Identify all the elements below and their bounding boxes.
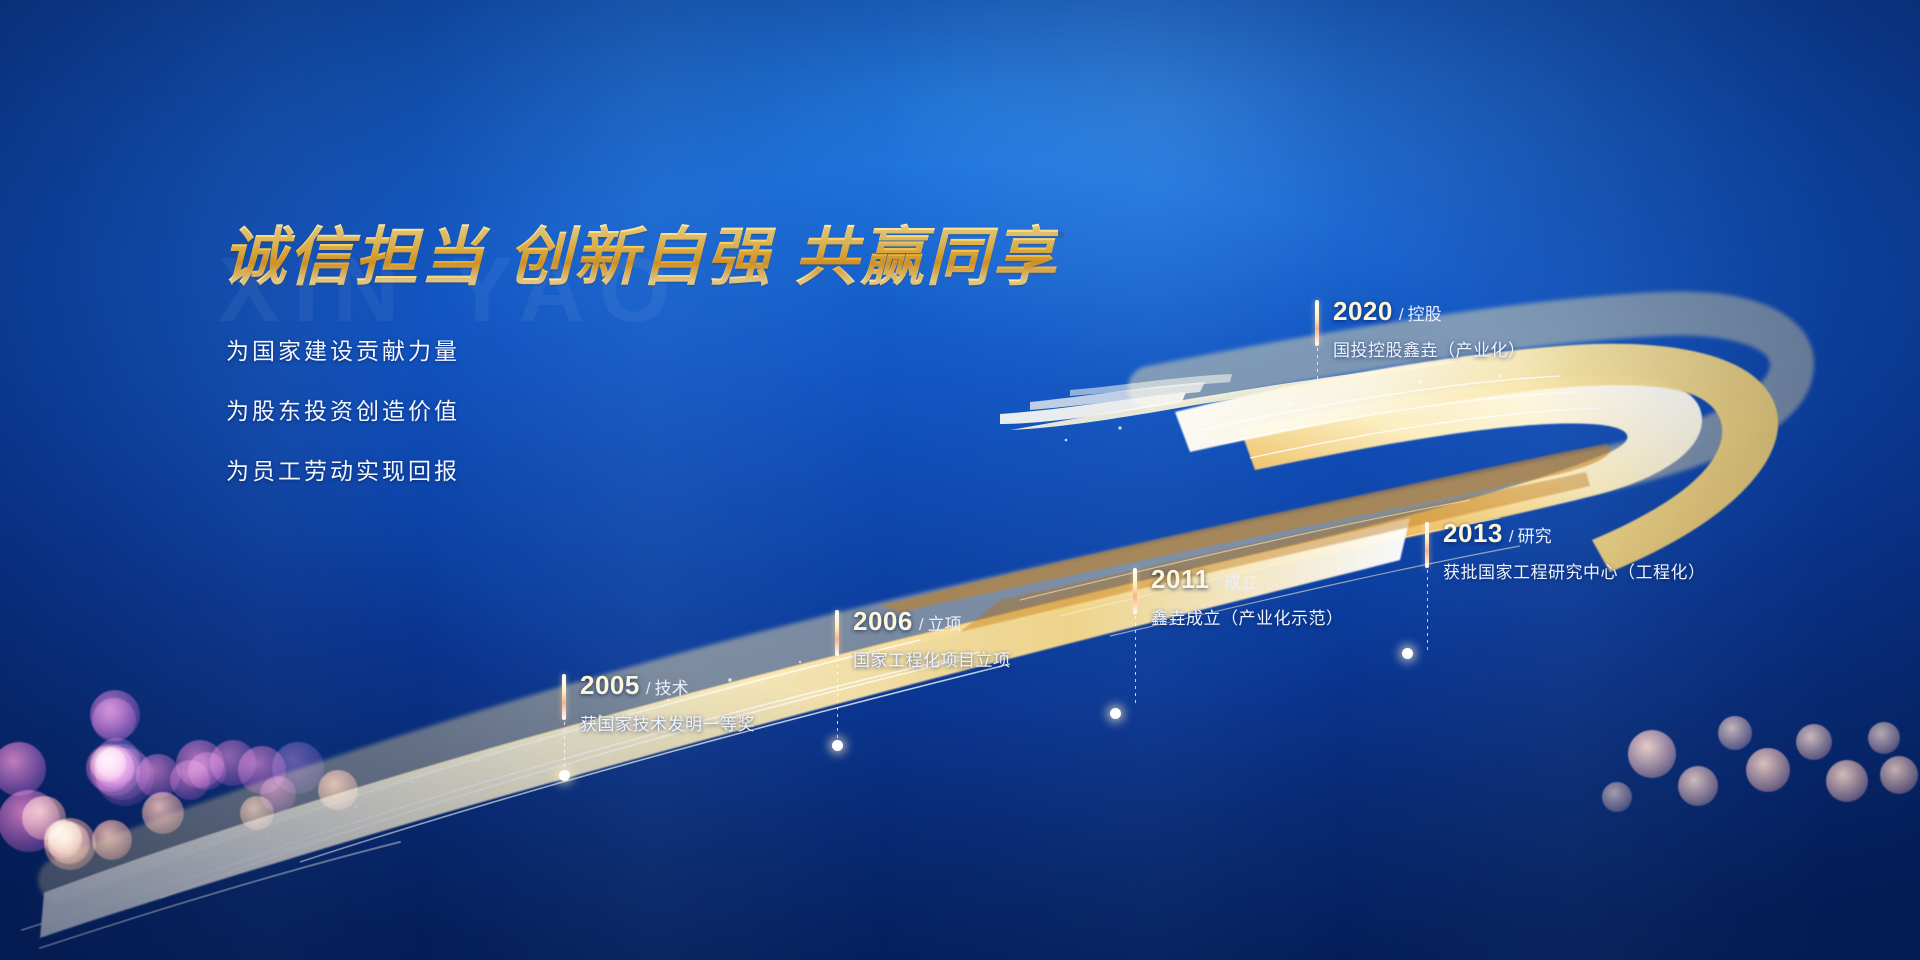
- milestone-accent-bar: [562, 674, 566, 720]
- bokeh-dot: [1796, 724, 1832, 760]
- bokeh-dot: [1718, 716, 1752, 750]
- milestone-text: 2013/研究 获批国家工程研究中心（工程化）: [1443, 518, 1706, 583]
- milestone-year: 2005: [580, 670, 640, 700]
- milestone-description: 获批国家工程研究中心（工程化）: [1443, 558, 1706, 583]
- bokeh-dot: [90, 746, 126, 782]
- subtitle-list: 为国家建设贡献力量 为股东投资创造价值 为员工劳动实现回报: [226, 332, 460, 512]
- bokeh-dot: [210, 740, 256, 786]
- milestone-year: 2011: [1151, 564, 1209, 594]
- bokeh-dot: [170, 760, 210, 800]
- milestone-point: [832, 740, 843, 751]
- milestone-year: 2020: [1333, 296, 1393, 326]
- headline-part-1: 诚信担当: [222, 221, 486, 295]
- bokeh-dot: [238, 746, 286, 794]
- bokeh-dot: [1678, 766, 1718, 806]
- bokeh-dot: [318, 770, 358, 810]
- bokeh-dot: [1868, 722, 1900, 754]
- bokeh-dot: [0, 790, 60, 852]
- milestone-description: 鑫垚成立（产业化示范）: [1151, 604, 1344, 629]
- headline-part-2: 创新自强: [508, 221, 772, 295]
- bokeh-dot: [94, 744, 150, 800]
- milestone-tag: 控股: [1408, 305, 1442, 324]
- milestone-tag: 技术: [655, 679, 689, 698]
- milestone-description: 国投控股鑫垚（产业化）: [1333, 336, 1526, 361]
- bokeh-dot: [92, 698, 136, 742]
- bokeh-dot: [48, 822, 90, 864]
- bokeh-dot: [96, 748, 154, 806]
- milestone-point: [1110, 708, 1121, 719]
- bokeh-dot: [188, 752, 226, 790]
- milestone-year: 2006: [853, 606, 913, 636]
- bokeh-dot: [142, 792, 184, 834]
- bokeh-dot: [94, 738, 140, 784]
- bokeh-dot: [240, 796, 274, 830]
- milestone-leader-line: [1317, 348, 1318, 414]
- bokeh-dot: [92, 820, 132, 860]
- banner-stage: XIN YAO 诚信担当创新自强共赢同享 为国家建设贡献力量 为股东投资创造价值…: [0, 0, 1920, 960]
- milestone-accent-bar: [835, 610, 839, 656]
- milestone-separator: /: [646, 679, 651, 698]
- subtitle-line: 为员工劳动实现回报: [226, 452, 460, 486]
- bokeh-dot: [260, 776, 296, 812]
- milestone-point: [1402, 648, 1413, 659]
- bokeh-dot: [90, 690, 140, 740]
- milestone-text: 2006/立项 国家工程化项目立项: [853, 606, 1011, 671]
- milestone-separator: /: [1215, 573, 1220, 592]
- milestone-text: 2020/控股 国投控股鑫垚（产业化）: [1333, 296, 1526, 361]
- milestone-leader-line: [1427, 570, 1428, 652]
- milestone-tag: 立项: [928, 615, 962, 634]
- bokeh-dot: [0, 742, 46, 796]
- page-title: 诚信担当创新自强共赢同享: [222, 206, 1058, 298]
- milestone-point: [559, 770, 570, 781]
- bokeh-dot: [22, 796, 66, 840]
- milestone-separator: /: [1509, 527, 1514, 546]
- headline-part-3: 共赢同享: [794, 221, 1058, 295]
- milestone-description: 国家工程化项目立项: [853, 646, 1011, 671]
- milestone-separator: /: [919, 615, 924, 634]
- milestone-separator: /: [1399, 305, 1404, 324]
- bokeh-dot: [176, 740, 224, 788]
- milestone-year: 2013: [1443, 518, 1503, 548]
- milestone-leader-line: [1135, 616, 1136, 706]
- milestone-description: 获国家技术发明一等奖: [580, 710, 755, 735]
- milestone-tag: 研究: [1518, 527, 1552, 546]
- milestone-accent-bar: [1315, 300, 1319, 346]
- bokeh-dot: [44, 818, 96, 870]
- milestone-leader-line: [837, 658, 838, 744]
- milestone-accent-bar: [1133, 568, 1137, 614]
- bokeh-dot: [1826, 760, 1868, 802]
- bokeh-dot: [1628, 730, 1676, 778]
- milestone-text: 2011/成立 鑫垚成立（产业化示范）: [1151, 564, 1344, 629]
- bokeh-dot: [90, 746, 140, 796]
- bokeh-dot: [48, 820, 82, 854]
- bokeh-dot: [272, 742, 324, 794]
- bokeh-dot: [1880, 756, 1918, 794]
- bokeh-dot: [136, 754, 180, 798]
- milestone-leader-line: [564, 722, 565, 774]
- bokeh-dot: [96, 748, 126, 778]
- subtitle-line: 为国家建设贡献力量: [226, 332, 460, 366]
- milestone-text: 2005/技术 获国家技术发明一等奖: [580, 670, 755, 735]
- bokeh-dot: [86, 744, 134, 792]
- milestone-tag: 成立: [1224, 573, 1258, 592]
- subtitle-line: 为股东投资创造价值: [226, 392, 460, 426]
- bokeh-dot: [1746, 748, 1790, 792]
- bokeh-dot: [94, 748, 134, 788]
- milestone-accent-bar: [1425, 522, 1429, 568]
- bokeh-dot: [1602, 782, 1632, 812]
- bokeh-dot: [44, 820, 82, 858]
